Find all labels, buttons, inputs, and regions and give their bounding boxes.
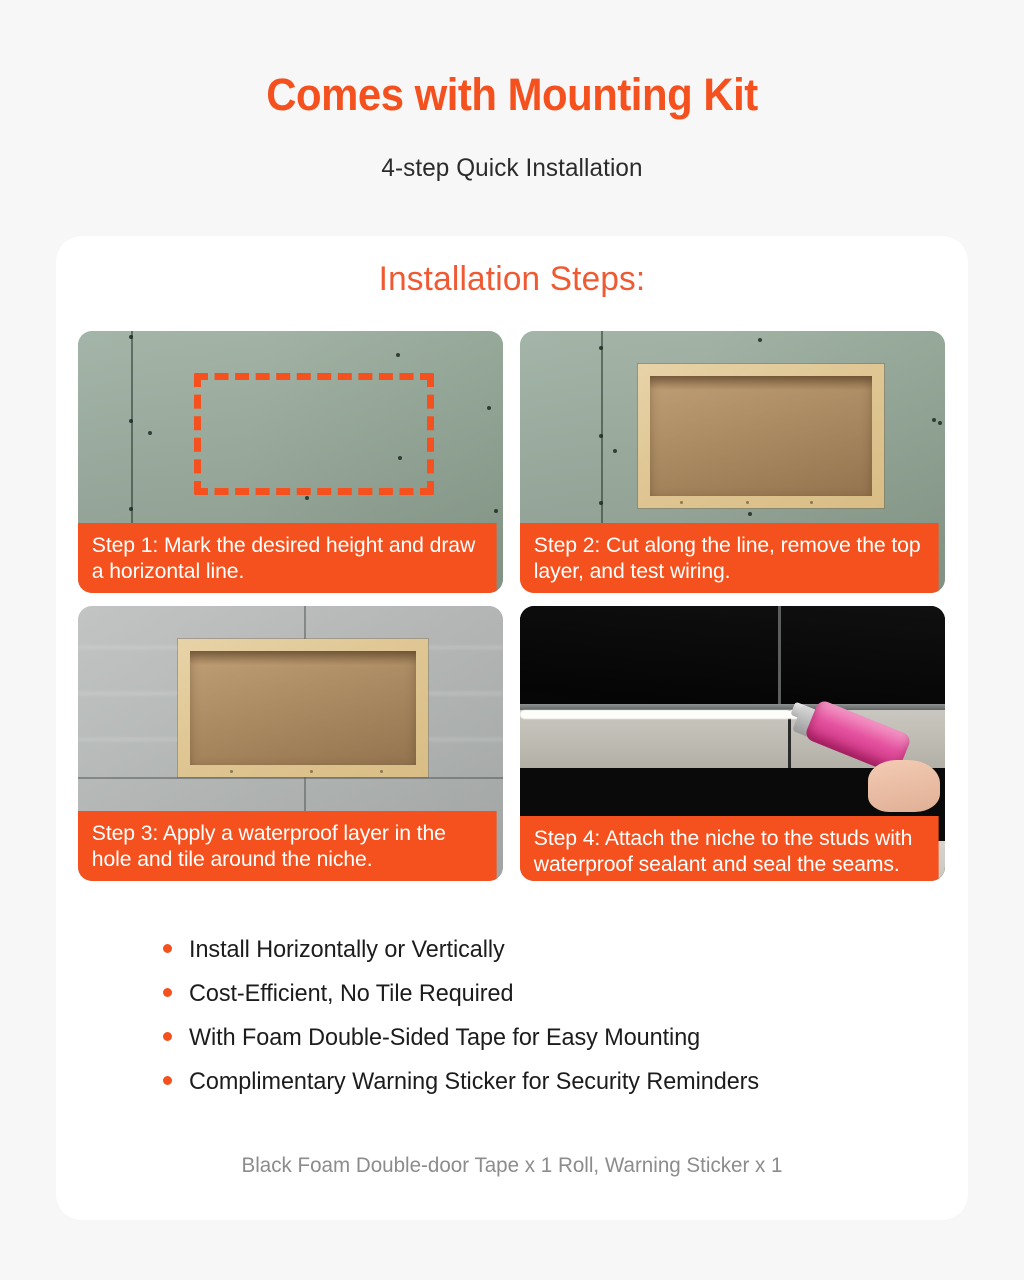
list-item: Complimentary Warning Sticker for Securi… [163, 1068, 923, 1096]
feature-label: Cost-Efficient, No Tile Required [189, 980, 513, 1008]
feature-label: Complimentary Warning Sticker for Securi… [189, 1068, 759, 1096]
installation-card: Installation Steps: Step 1: Mark [56, 236, 968, 1220]
step-1-caption: Step 1: Mark the desired height and draw… [78, 523, 497, 593]
installation-steps-grid: Step 1: Mark the desired height and draw… [78, 331, 945, 881]
step-2-caption: Step 2: Cut along the line, remove the t… [520, 523, 939, 593]
niche-frame [638, 364, 884, 508]
hand [868, 760, 940, 812]
feature-list: Install Horizontally or Vertically Cost-… [163, 936, 923, 1112]
list-item: Install Horizontally or Vertically [163, 936, 923, 964]
page-subtitle: 4-step Quick Installation [15, 154, 1008, 183]
marking-outline-icon [194, 373, 434, 495]
step-3-caption: Step 3: Apply a waterproof layer in the … [78, 811, 497, 881]
step-panel-4[interactable]: Step 4: Attach the niche to the studs wi… [520, 606, 945, 881]
step-panel-1[interactable]: Step 1: Mark the desired height and draw… [78, 331, 503, 593]
step-panel-2[interactable]: Step 2: Cut along the line, remove the t… [520, 331, 945, 593]
sealant-bead [520, 710, 812, 719]
installation-steps-heading: Installation Steps: [65, 236, 959, 299]
kit-contents-note: Black Foam Double-door Tape x 1 Roll, Wa… [65, 1154, 959, 1178]
page-header: Comes with Mounting Kit 4-step Quick Ins… [0, 0, 1024, 183]
step-4-caption: Step 4: Attach the niche to the studs wi… [520, 816, 939, 881]
bullet-dot-icon [163, 1032, 172, 1041]
product-detail-page: Comes with Mounting Kit 4-step Quick Ins… [0, 0, 1024, 1280]
feature-label: With Foam Double-Sided Tape for Easy Mou… [189, 1024, 700, 1052]
list-item: Cost-Efficient, No Tile Required [163, 980, 923, 1008]
feature-label: Install Horizontally or Vertically [189, 936, 505, 964]
page-title: Comes with Mounting Kit [36, 70, 988, 120]
list-item: With Foam Double-Sided Tape for Easy Mou… [163, 1024, 923, 1052]
bullet-dot-icon [163, 944, 172, 953]
step-panel-3[interactable]: Step 3: Apply a waterproof layer in the … [78, 606, 503, 881]
bullet-dot-icon [163, 1076, 172, 1085]
bullet-dot-icon [163, 988, 172, 997]
niche-frame [178, 639, 428, 777]
